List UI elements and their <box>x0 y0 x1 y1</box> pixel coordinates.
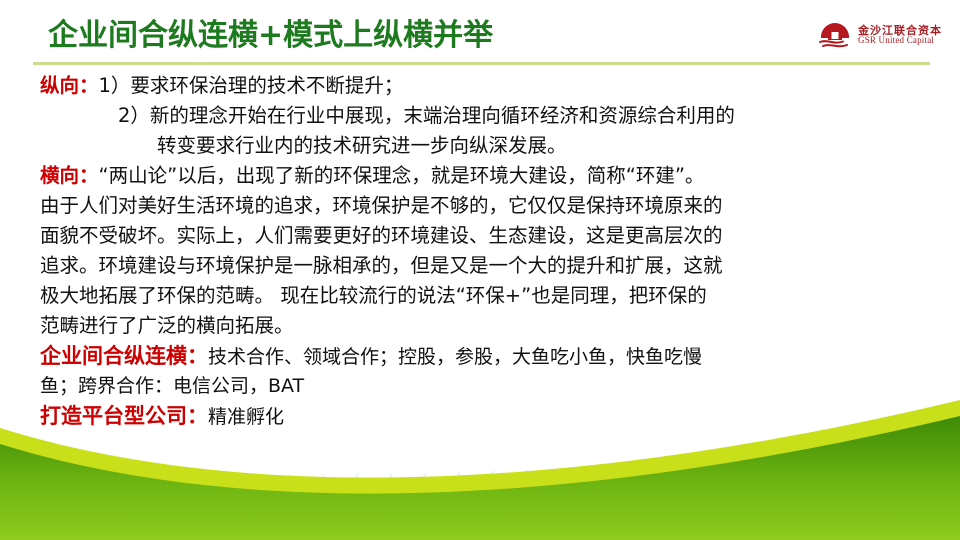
page-title: 企业间合纵连横+模式上纵横并举 <box>48 18 493 54</box>
section4-label: 打造平台型公司： <box>40 404 208 428</box>
section4-text-1: 精准孵化 <box>208 406 284 428</box>
section1-label: 纵向： <box>40 74 99 97</box>
section1-line-1: 纵向：1）要求环保治理的技术不断提升； <box>40 71 930 101</box>
section1-text-3: 转变要求行业内的技术研究进一步向纵深发展。 <box>157 134 567 157</box>
section2-line-5: 极大地拓展了环保的范畴。 现在比较流行的说法“环保+”也是同理，把环保的 <box>40 281 930 311</box>
section3-text-2: 鱼；跨界合作：电信公司，BAT <box>40 375 304 397</box>
section1-line-2: 2）新的理念开始在行业中展现，末端治理向循环经济和资源综合利用的 <box>40 101 930 131</box>
grass-tufts-icon <box>0 419 960 540</box>
section2-line-1: 横向：“两山论”以后，出现了新的环保理念，就是环境大建设，简称“环建”。 <box>40 161 930 191</box>
green-hill <box>0 416 960 540</box>
logo-name-en: GSR United Capital <box>858 36 942 45</box>
company-logo: 金沙江联合资本 GSR United Capital <box>818 20 942 50</box>
section1-line-3: 转变要求行业内的技术研究进一步向纵深发展。 <box>40 131 930 161</box>
section2-line-2: 由于人们对美好生活环境的追求，环境保护是不够的，它仅仅是保持环境原来的 <box>40 191 930 221</box>
section3-line-2: 鱼；跨界合作：电信公司，BAT <box>40 371 930 401</box>
section4-line-1: 打造平台型公司：精准孵化 <box>40 401 930 431</box>
section2-text-4: 追求。环境建设与环境保护是一脉相承的，但是又是一个大的提升和扩展，这就 <box>40 254 723 277</box>
logo-wordmark: 金沙江联合资本 GSR United Capital <box>858 25 942 46</box>
gsr-sun-wave-mark-icon <box>818 20 852 50</box>
slide-canvas: 企业间合纵连横+模式上纵横并举 金沙江联合资本 GSR United Capit… <box>0 0 960 540</box>
section3-text-1: 技术合作、领域合作；控股，参股，大鱼吃小鱼，快鱼吃慢 <box>208 346 702 368</box>
section2-label: 横向： <box>40 164 99 187</box>
section2-text-3: 面貌不受破坏。实际上，人们需要更好的环境建设、生态建设，这是更高层次的 <box>40 224 723 247</box>
section1-text-2: 2）新的理念开始在行业中展现，末端治理向循环经济和资源综合利用的 <box>118 104 735 127</box>
section2-line-6: 范畴进行了广泛的横向拓展。 <box>40 311 930 341</box>
section3-label: 企业间合纵连横： <box>40 344 208 368</box>
slide-header: 企业间合纵连横+模式上纵横并举 金沙江联合资本 GSR United Capit… <box>0 0 960 68</box>
title-divider <box>33 62 930 65</box>
section3-line-1: 企业间合纵连横：技术合作、领域合作；控股，参股，大鱼吃小鱼，快鱼吃慢 <box>40 341 930 371</box>
section1-text-1: 1）要求环保治理的技术不断提升； <box>99 74 404 97</box>
section2-line-3: 面貌不受破坏。实际上，人们需要更好的环境建设、生态建设，这是更高层次的 <box>40 221 930 251</box>
section2-text-6: 范畴进行了广泛的横向拓展。 <box>40 314 294 337</box>
section2-text-5: 极大地拓展了环保的范畴。 现在比较流行的说法“环保+”也是同理，把环保的 <box>40 284 707 307</box>
section2-text-2: 由于人们对美好生活环境的追求，环境保护是不够的，它仅仅是保持环境原来的 <box>40 194 723 217</box>
section2-text-1: “两山论”以后，出现了新的环保理念，就是环境大建设，简称“环建”。 <box>99 164 705 187</box>
slide-body: 纵向：1）要求环保治理的技术不断提升； 2）新的理念开始在行业中展现，末端治理向… <box>40 71 930 431</box>
section2-line-4: 追求。环境建设与环境保护是一脉相承的，但是又是一个大的提升和扩展，这就 <box>40 251 930 281</box>
